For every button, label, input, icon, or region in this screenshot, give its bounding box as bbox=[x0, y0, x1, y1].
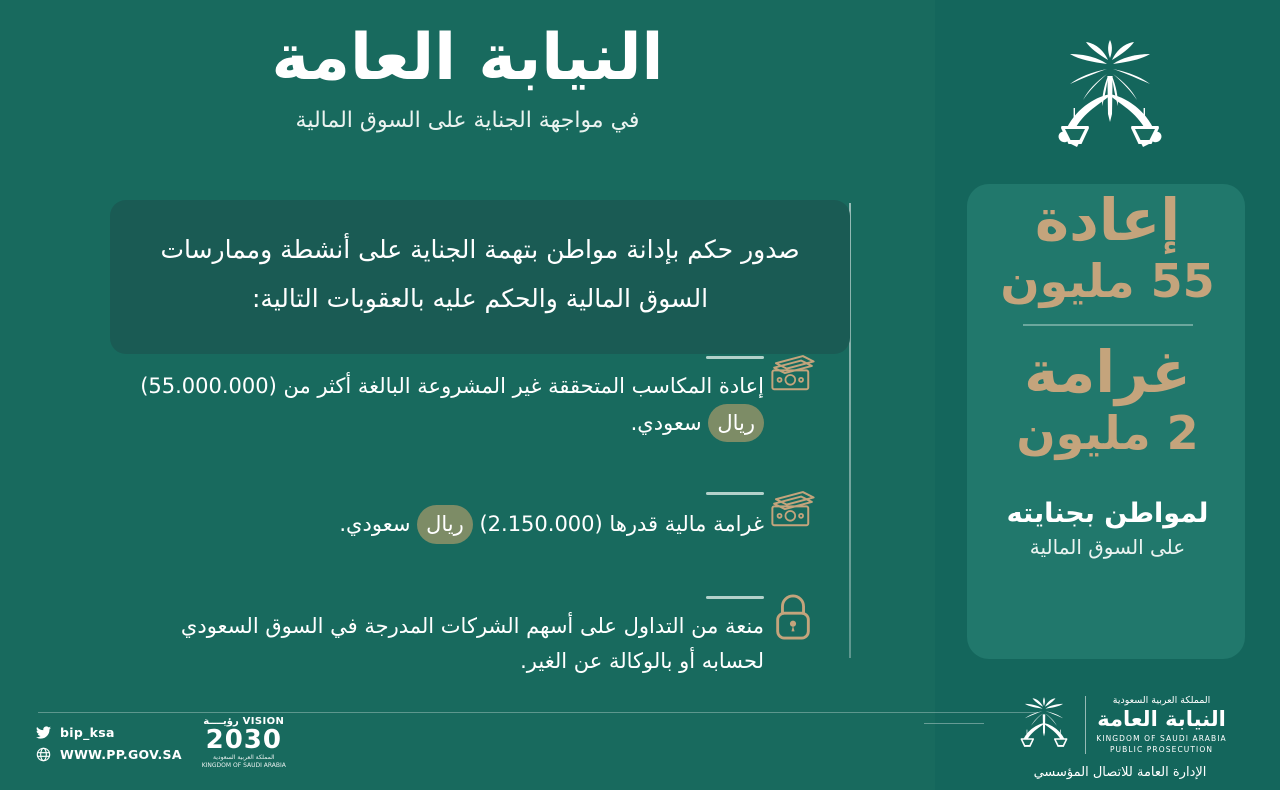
twitter-handle: bip_ksa bbox=[60, 725, 115, 740]
sidebar-stat-fine: غرامة 2 مليون bbox=[935, 342, 1280, 462]
org-name-ar: النيابة العامة bbox=[1096, 707, 1227, 732]
vision-2030-kingdom-ar: المملكة العربية السعودية bbox=[198, 754, 290, 762]
footer-org-logo: المملكة العربية السعودية النيابة العامة … bbox=[990, 694, 1250, 780]
currency-highlight: ريال bbox=[417, 505, 473, 544]
penalty-text: إعادة المكاسب المتحققة غير المشروعة البا… bbox=[128, 369, 764, 442]
intro-text: صدور حكم بإدانة مواطن بتهمة الجناية على … bbox=[144, 226, 816, 324]
page-title: النيابة العامة bbox=[0, 18, 935, 98]
vision-2030-logo: VISION رؤيــــة 2030 المملكة العربية الس… bbox=[198, 716, 290, 770]
footer-logo-separator bbox=[1085, 696, 1086, 754]
website-url: WWW.PP.GOV.SA bbox=[60, 747, 182, 762]
vision-2030-kingdom-en: KINGDOM OF SAUDI ARABIA bbox=[198, 762, 290, 770]
org-kingdom-ar: المملكة العربية السعودية bbox=[1096, 695, 1227, 706]
sidebar-stat-label: غرامة bbox=[935, 342, 1280, 403]
twitter-link[interactable]: bip_ksa bbox=[36, 725, 182, 740]
infographic-root: إعادة 55 مليون غرامة 2 مليون لمواطن بجنا… bbox=[0, 0, 1280, 790]
header: النيابة العامة في مواجهة الجناية على الس… bbox=[0, 18, 935, 133]
sidebar-stat-amount: 2 مليون bbox=[935, 405, 1280, 463]
penalties-list: إعادة المكاسب المتحققة غير المشروعة البا… bbox=[128, 352, 828, 725]
saudi-emblem-icon bbox=[1045, 34, 1175, 154]
banknotes-icon bbox=[764, 488, 822, 546]
bullet-rule bbox=[706, 492, 764, 495]
org-kingdom-en: KINGDOM OF SAUDI ARABIA bbox=[1096, 733, 1227, 744]
banknotes-icon bbox=[764, 352, 822, 410]
contact-links: bip_ksa WWW.PP.GOV.SA bbox=[36, 725, 182, 762]
bullet-rule bbox=[706, 356, 764, 359]
bullet-rule bbox=[706, 596, 764, 599]
footer-left: VISION رؤيــــة 2030 المملكة العربية الس… bbox=[36, 716, 290, 770]
page-subtitle: في مواجهة الجناية على السوق المالية bbox=[0, 108, 935, 133]
footer-emblem-icon bbox=[1013, 694, 1075, 756]
org-department: الإدارة العامة للاتصال المؤسسي bbox=[990, 765, 1250, 780]
sidebar-stats: إعادة 55 مليون غرامة 2 مليون لمواطن بجنا… bbox=[935, 190, 1280, 559]
footer-divider bbox=[38, 712, 1038, 713]
sidebar-panel: إعادة 55 مليون غرامة 2 مليون لمواطن بجنا… bbox=[935, 0, 1280, 790]
website-link[interactable]: WWW.PP.GOV.SA bbox=[36, 747, 182, 762]
twitter-icon bbox=[36, 725, 51, 740]
currency-highlight: ريال bbox=[708, 404, 764, 443]
sidebar-footer-text: لمواطن بجنايته على السوق المالية bbox=[935, 495, 1280, 559]
penalty-text: منعة من التداول على أسهم الشركات المدرجة… bbox=[128, 609, 764, 678]
padlock-icon bbox=[764, 592, 822, 650]
sidebar-footer-line2: على السوق المالية bbox=[935, 535, 1280, 559]
sidebar-stat-amount: 55 مليون bbox=[935, 253, 1280, 311]
org-name-en: PUBLIC PROSECUTION bbox=[1096, 744, 1227, 755]
penalty-text-before: غرامة مالية قدرها (2.150.000) bbox=[479, 512, 764, 536]
sidebar-stat-restitution: إعادة 55 مليون bbox=[935, 190, 1280, 310]
penalty-text-after: سعودي. bbox=[631, 411, 702, 435]
footer-right-rule bbox=[924, 723, 984, 724]
list-item: غرامة مالية قدرها (2.150.000) ريال سعودي… bbox=[128, 488, 828, 546]
list-item: إعادة المكاسب المتحققة غير المشروعة البا… bbox=[128, 352, 828, 442]
penalty-text-after: سعودي. bbox=[339, 512, 410, 536]
penalty-text: غرامة مالية قدرها (2.150.000) ريال سعودي… bbox=[128, 505, 764, 544]
globe-icon bbox=[36, 747, 51, 762]
sidebar-footer-line1: لمواطن بجنايته bbox=[935, 495, 1280, 533]
sidebar-divider bbox=[1023, 324, 1193, 326]
penalty-text-before: إعادة المكاسب المتحققة غير المشروعة البا… bbox=[140, 374, 764, 398]
list-item: منعة من التداول على أسهم الشركات المدرجة… bbox=[128, 592, 828, 678]
vision-2030-number: 2030 bbox=[198, 727, 290, 754]
sidebar-stat-label: إعادة bbox=[935, 190, 1280, 251]
intro-panel: صدور حكم بإدانة مواطن بتهمة الجناية على … bbox=[110, 200, 850, 354]
